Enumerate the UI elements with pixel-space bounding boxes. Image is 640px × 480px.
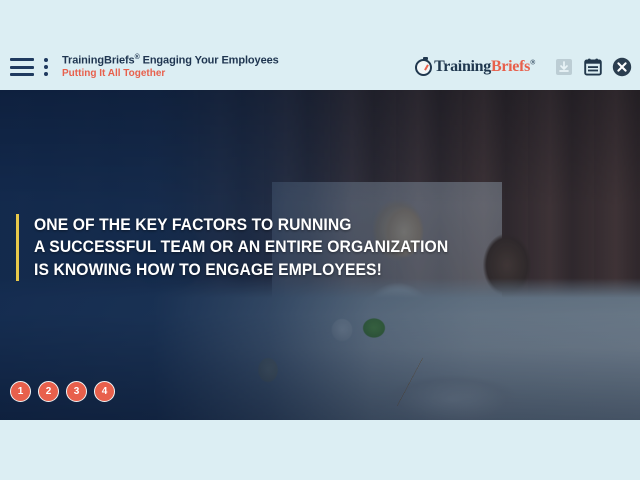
course-title-brand: TrainingBriefs	[62, 55, 135, 67]
pagination-item-2[interactable]: 2	[38, 381, 59, 402]
hamburger-line	[10, 73, 34, 76]
logo-registered-mark: ®	[530, 59, 535, 67]
headline-line-3: IS KNOWING HOW TO ENGAGE EMPLOYEES!	[34, 259, 448, 281]
kebab-dot	[44, 58, 48, 62]
kebab-dot	[44, 72, 48, 76]
logo-word-training: Training	[434, 58, 491, 75]
hamburger-menu-icon[interactable]	[10, 58, 34, 76]
more-options-icon[interactable]	[43, 58, 49, 76]
course-title-block: TrainingBriefs® Engaging Your Employees …	[62, 54, 279, 80]
player-header: TrainingBriefs® Engaging Your Employees …	[0, 44, 640, 90]
logo-word-briefs: Briefs	[491, 58, 530, 75]
elearning-player: TrainingBriefs® Engaging Your Employees …	[0, 0, 640, 480]
notes-icon[interactable]	[583, 57, 603, 77]
kebab-dot	[44, 65, 48, 69]
pagination-item-3[interactable]: 3	[66, 381, 87, 402]
slide-stage: ONE OF THE KEY FACTORS TO RUNNING A SUCC…	[0, 90, 640, 420]
pagination-item-1[interactable]: 1	[10, 381, 31, 402]
pagination-item-4[interactable]: 4	[94, 381, 115, 402]
hamburger-line	[10, 66, 34, 69]
headline-lines: ONE OF THE KEY FACTORS TO RUNNING A SUCC…	[34, 214, 470, 281]
stopwatch-icon	[415, 59, 432, 76]
course-title-rest: Engaging Your Employees	[140, 55, 279, 67]
hamburger-line	[10, 58, 34, 61]
download-icon	[554, 57, 574, 77]
trainingbriefs-logo: TrainingBriefs®	[415, 58, 535, 76]
logo-wordmark: TrainingBriefs®	[434, 58, 535, 76]
slide-pagination: 1 2 3 4	[10, 381, 115, 402]
slide-headline: ONE OF THE KEY FACTORS TO RUNNING A SUCC…	[16, 214, 470, 281]
headline-line-1: ONE OF THE KEY FACTORS TO RUNNING	[34, 214, 448, 236]
headline-line-2: A SUCCESSFUL TEAM OR AN ENTIRE ORGANIZAT…	[34, 236, 448, 258]
header-actions: TrainingBriefs®	[415, 57, 632, 77]
course-title: TrainingBriefs® Engaging Your Employees	[62, 54, 279, 67]
headline-accent-bar	[16, 214, 19, 281]
course-subtitle: Putting It All Together	[62, 68, 279, 80]
close-icon[interactable]	[612, 57, 632, 77]
